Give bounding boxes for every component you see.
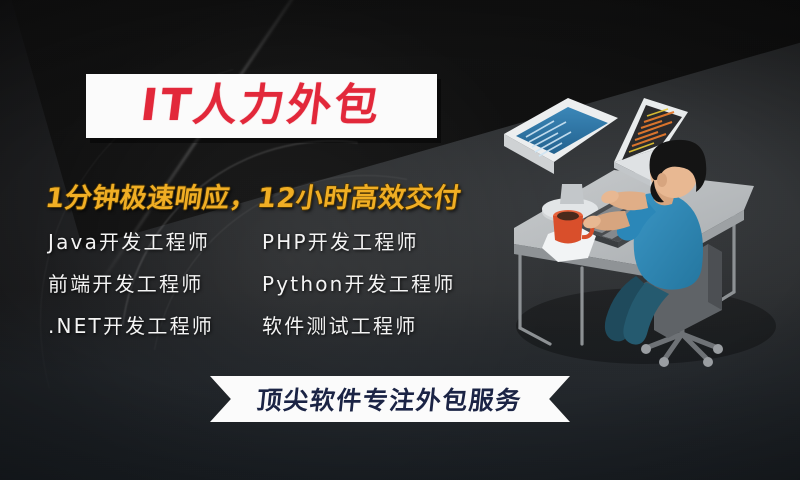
poster-canvas: IT人力外包 1分钟极速响应，12小时高效交付 Java开发工程师 PHP开发工… <box>0 0 800 480</box>
service-item: 软件测试工程师 <box>262 310 417 339</box>
ribbon-slogan: 顶尖软件专注外包服务 <box>256 381 525 417</box>
service-list: Java开发工程师 PHP开发工程师 前端开发工程师 Python开发工程师 .… <box>48 226 468 352</box>
developer-illustration <box>496 76 800 376</box>
service-row: 前端开发工程师 Python开发工程师 <box>48 268 468 294</box>
service-item: Python开发工程师 <box>262 268 456 297</box>
service-item: 前端开发工程师 <box>48 268 262 297</box>
service-item: Java开发工程师 <box>48 226 262 255</box>
page-title: IT人力外包 <box>139 84 385 128</box>
service-item: .NET开发工程师 <box>48 310 262 339</box>
service-row: Java开发工程师 PHP开发工程师 <box>48 226 468 252</box>
subtitle-tagline: 1分钟极速响应，12小时高效交付 <box>43 176 464 215</box>
bottom-ribbon: 顶尖软件专注外包服务 <box>210 376 570 422</box>
service-item: PHP开发工程师 <box>262 226 419 255</box>
title-band: IT人力外包 <box>86 74 437 138</box>
service-row: .NET开发工程师 软件测试工程师 <box>48 310 468 336</box>
